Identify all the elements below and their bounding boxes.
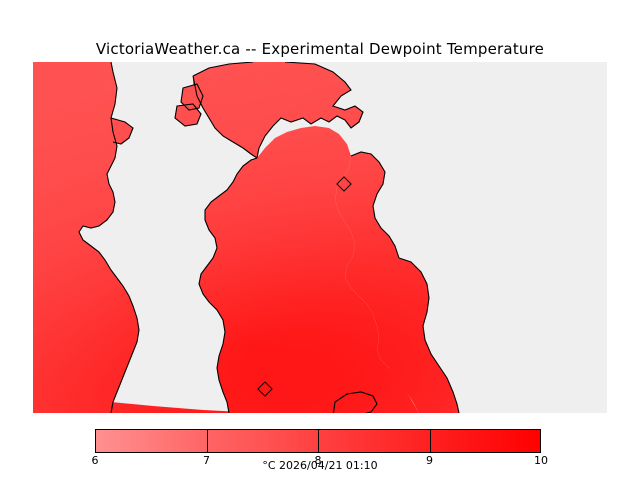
map-svg	[33, 62, 607, 413]
colorbar-tick-9	[430, 429, 431, 453]
map-panel[interactable]	[33, 62, 607, 413]
weather-map-page: VictoriaWeather.ca -- Experimental Dewpo…	[0, 0, 640, 480]
colorbar-caption: °C 2026/04/21 01:10	[0, 459, 640, 472]
colorbar-tick-8	[318, 429, 319, 453]
colorbar: 678910	[95, 429, 541, 453]
page-title: VictoriaWeather.ca -- Experimental Dewpo…	[0, 40, 640, 58]
temperature-field	[33, 62, 607, 413]
colorbar-tick-7	[207, 429, 208, 453]
